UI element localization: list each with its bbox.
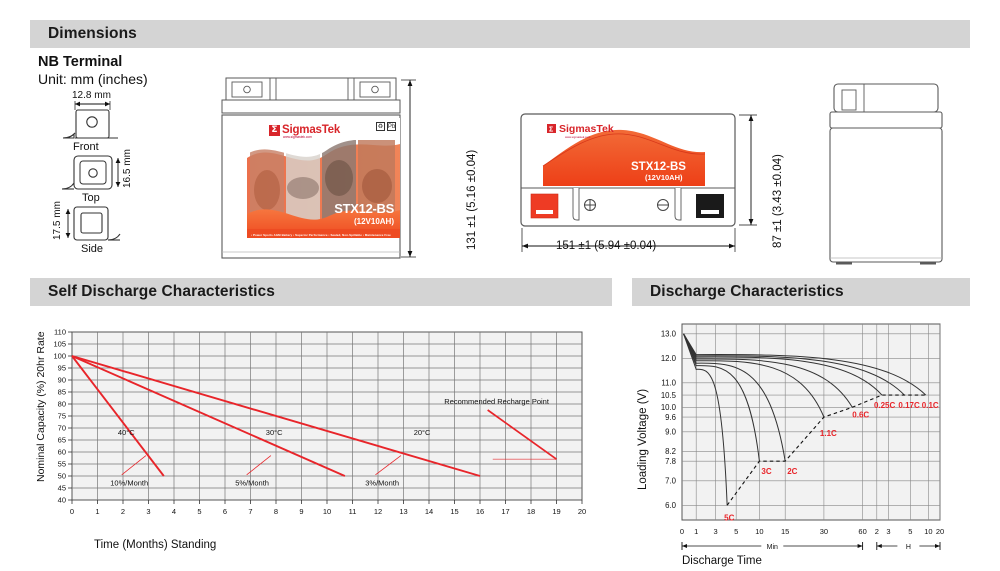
x-tick-label: 6 (223, 507, 227, 516)
x-tick-label: 18 (527, 507, 535, 516)
y-tick-label: 45 (58, 484, 66, 493)
positive-terminal-block (531, 194, 558, 218)
x-tick-label: 1 (95, 507, 99, 516)
compliance-icons: ♻ Pb (376, 122, 396, 131)
terminal-views-diagram: 12.8 mm Front 16.5 mm Top 17.5 (30, 90, 190, 275)
x-tick-label: 0 (70, 507, 74, 516)
x-tick-label: 30 (820, 527, 828, 536)
x-tick-label: 2 (875, 527, 879, 536)
x-tick-label: 60 (858, 527, 866, 536)
y-tick-label: 13.0 (661, 330, 677, 339)
axis-group-label: Min (767, 544, 778, 551)
annotation-label: Recommended Recharge Point (444, 397, 550, 406)
axis-group-label: H (906, 544, 911, 551)
terminal-width-label: 12.8 mm (72, 90, 111, 101)
terminal-height-label: 16.5 mm (122, 149, 133, 188)
x-tick-label: 7 (248, 507, 252, 516)
y-tick-label: 60 (58, 448, 66, 457)
sigma-logo-icon: Σ (269, 125, 280, 136)
y-tick-label: 10.0 (661, 403, 677, 412)
x-tick-label: 4 (172, 507, 176, 516)
x-tick-label: 8 (274, 507, 278, 516)
nb-terminal-heading-block: NB Terminal Unit: mm (inches) (38, 54, 148, 88)
model-voltage-front: (12V10AH) (354, 217, 394, 226)
section-header-dimensions: Dimensions (30, 20, 970, 48)
curve-label: 0.1C (922, 401, 939, 410)
y-tick-label: 8.2 (665, 447, 676, 456)
y-tick-label: 12.0 (661, 354, 677, 363)
y-tick-label: 7.8 (665, 457, 676, 466)
section-title-dimensions: Dimensions (30, 25, 137, 43)
x-tick-label: 17 (501, 507, 509, 516)
x-tick-label: 10 (755, 527, 763, 536)
section-title-self-discharge: Self Discharge Characteristics (30, 283, 275, 301)
terminal-depth-label: 17.5 mm (52, 201, 63, 240)
y-tick-label: 55 (58, 460, 66, 469)
x-tick-label: 5 (197, 507, 201, 516)
negative-terminal-block (696, 194, 724, 218)
label-tagline: • Power Sports AGM Battery • Superior Pe… (251, 233, 398, 237)
recycle-icon: ♻ (376, 122, 385, 131)
section-header-self-discharge: Self Discharge Characteristics (30, 278, 612, 306)
x-tick-label: 0 (680, 527, 684, 536)
discharge-chart: 01351015306023510206.07.07.88.29.09.610.… (634, 318, 982, 570)
section-header-discharge: Discharge Characteristics (632, 278, 970, 306)
y-tick-label: 10.5 (661, 391, 677, 400)
x-tick-label: 9 (299, 507, 303, 516)
unit-note: Unit: mm (inches) (38, 71, 148, 89)
model-name-top: STX12-BS (631, 161, 686, 173)
x-tick-label: 5 (908, 527, 912, 536)
y-tick-label: 50 (58, 472, 66, 481)
curve-label: 3C (761, 467, 771, 476)
annotation-label: 5%/Month (235, 479, 269, 488)
x-tick-label: 15 (781, 527, 789, 536)
brand-name-top: SigmasTek (559, 123, 614, 135)
dimension-width-label: 87 ±1 (3.43 ±0.04) (772, 154, 784, 248)
y-tick-label: 7.0 (665, 477, 677, 486)
brand-url: www.sigmastek.com (283, 135, 312, 139)
model-voltage-top: (12V10AH) (645, 173, 683, 182)
curve-label: 1.1C (820, 429, 837, 438)
x-tick-label: 10 (924, 527, 932, 536)
terminal-view-front-label: Front (73, 141, 99, 153)
lead-pb-icon: Pb (387, 122, 396, 131)
discharge-x-axis-label: Discharge Time (682, 555, 762, 567)
x-tick-label: 10 (323, 507, 331, 516)
x-tick-label: 3 (146, 507, 150, 516)
curve-label: 5C (724, 513, 734, 522)
y-tick-label: 95 (58, 364, 66, 373)
nb-terminal-title: NB Terminal (38, 54, 148, 71)
datasheet-page: Dimensions Self Discharge Characteristic… (0, 0, 1000, 571)
curve-label: 0.25C (874, 401, 896, 410)
discharge-y-axis-label: Loading Voltage (V) (637, 389, 649, 490)
self-discharge-y-axis-label: Nominal Capacity (%) 20hr Rate (35, 331, 47, 482)
y-tick-label: 110 (54, 328, 66, 337)
self-discharge-x-axis-label: Time (Months) Standing (94, 539, 216, 551)
y-tick-label: 85 (58, 388, 66, 397)
y-tick-label: 80 (58, 400, 66, 409)
annotation-label: 20°C (414, 428, 431, 437)
model-name-front: STX12-BS (334, 201, 394, 216)
y-tick-label: 9.6 (665, 413, 676, 422)
annotation-label: 40°C (118, 428, 135, 437)
dimension-length-label: 151 ±1 (5.94 ±0.04) (556, 240, 656, 252)
x-tick-label: 14 (425, 507, 433, 516)
x-tick-label: 15 (450, 507, 458, 516)
x-tick-label: 19 (552, 507, 560, 516)
x-tick-label: 5 (734, 527, 738, 536)
curve-label: 0.17C (898, 401, 920, 410)
y-tick-label: 6.0 (665, 501, 677, 510)
annotation-label: 30°C (266, 428, 283, 437)
terminal-view-top-label: Top (82, 192, 100, 204)
terminal-view-side-label: Side (81, 243, 103, 255)
dimension-height-label: 131 ±1 (5.16 ±0.04) (466, 150, 478, 250)
y-tick-label: 90 (58, 376, 66, 385)
y-tick-label: 65 (58, 436, 66, 445)
x-tick-label: 3 (713, 527, 717, 536)
x-tick-label: 2 (121, 507, 125, 516)
x-tick-label: 1 (694, 527, 698, 536)
x-tick-label: 20 (936, 527, 944, 536)
battery-side-view (818, 76, 948, 268)
x-tick-label: 3 (886, 527, 890, 536)
x-tick-label: 16 (476, 507, 484, 516)
annotation-label: 3%/Month (365, 479, 399, 488)
y-tick-label: 9.0 (665, 428, 677, 437)
y-tick-label: 75 (58, 412, 66, 421)
y-tick-label: 70 (58, 424, 66, 433)
annotation-label: 10%/Month (110, 479, 148, 488)
x-tick-label: 11 (349, 507, 357, 516)
x-tick-label: 20 (578, 507, 586, 516)
y-tick-label: 105 (53, 340, 66, 349)
brand-url-top: www.sigmastek.com (565, 135, 591, 139)
discharge-axis-groups: MinH (682, 541, 940, 551)
y-tick-label: 11.0 (661, 379, 676, 388)
y-tick-label: 100 (53, 352, 66, 361)
x-tick-label: 13 (399, 507, 407, 516)
x-tick-label: 12 (374, 507, 382, 516)
section-title-discharge: Discharge Characteristics (632, 283, 844, 301)
svg-text:Σ: Σ (549, 127, 553, 134)
battery-label-front: Σ SigmasTek www.sigmastek.com ♻ Pb STX12… (247, 118, 400, 238)
self-discharge-chart: 0123456789101112131415161718192040455055… (30, 322, 615, 567)
curve-label: 0.6C (852, 410, 869, 419)
curve-label: 2C (787, 467, 797, 476)
y-tick-label: 40 (58, 496, 66, 505)
